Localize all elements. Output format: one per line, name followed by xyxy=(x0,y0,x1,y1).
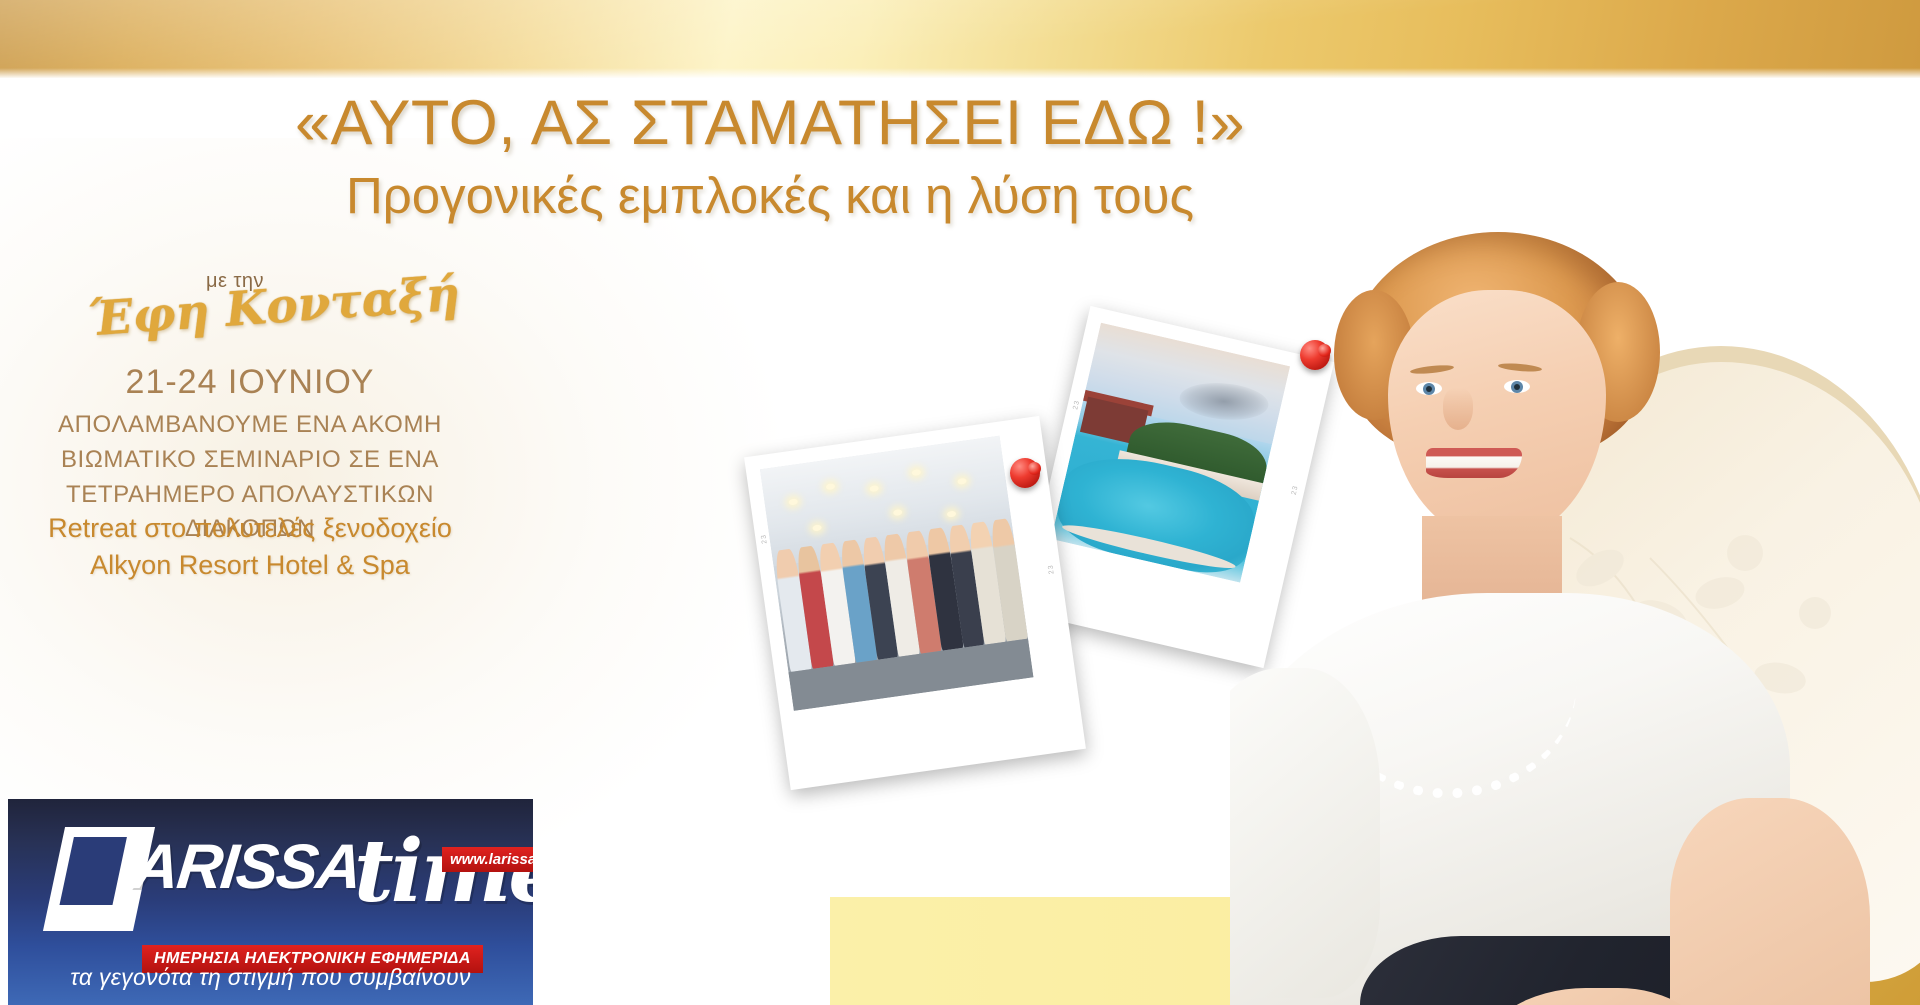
top-gold-bar xyxy=(0,0,1920,78)
venue-line-2: Alkyon Resort Hotel & Spa xyxy=(20,547,480,584)
headline-block: «ΑΥΤΟ, ΑΣ ΣΤΑΜΑΤΗΣΕΙ ΕΔΩ !» Προγονικές ε… xyxy=(180,90,1360,224)
logo-wordmark-row: ARISSA time www.larissatime.gr ΗΜΕΡΗΣΙΑ … xyxy=(54,823,524,933)
logo-word-primary: ARISSA xyxy=(130,831,364,903)
page-title: «ΑΥΤΟ, ΑΣ ΣΤΑΜΑΤΗΣΕΙ ΕΔΩ !» xyxy=(180,90,1360,157)
logo-url-badge[interactable]: www.larissatime.gr xyxy=(442,847,533,872)
presenter-portrait xyxy=(1230,198,1920,1005)
venue-block: Retreat στο πολυτελές ξενοδοχείο Alkyon … xyxy=(20,510,480,585)
group-photo-image xyxy=(760,436,1034,711)
main-canvas: «ΑΥΤΟ, ΑΣ ΣΤΑΜΑΤΗΣΕΙ ΕΔΩ !» Προγονικές ε… xyxy=(0,78,1920,1005)
detail-line: ΒΙΩΜΑΤΙΚΟ ΣΕΜΙΝΑΡΙΟ ΣΕ ΕΝΑ xyxy=(10,443,490,478)
photo-edge-mark: 23 xyxy=(760,533,768,544)
logo-tagline: τα γεγονότα τη στιγμή που συμβαίνουν xyxy=(8,964,533,991)
logo-word-secondary: time xyxy=(354,829,533,915)
venue-line-1: Retreat στο πολυτελές ξενοδοχείο xyxy=(20,510,480,547)
larissatime-logo-panel[interactable]: ARISSA time www.larissatime.gr ΗΜΕΡΗΣΙΑ … xyxy=(8,799,533,1005)
pushpin-icon xyxy=(1010,458,1044,492)
promo-banner: «ΑΥΤΟ, ΑΣ ΣΤΑΜΑΤΗΣΕΙ ΕΔΩ !» Προγονικές ε… xyxy=(0,0,1920,1005)
event-dates: 21-24 ΙΟΥΝΙΟΥ xyxy=(30,363,470,402)
photo-edge-mark: 23 xyxy=(1048,564,1056,575)
page-subtitle: Προγονικές εμπλοκές και η λύση τους xyxy=(180,167,1360,224)
detail-line: ΑΠΟΛΑΜΒΑΝΟΥΜΕ ΕΝΑ ΑΚΟΜΗ xyxy=(10,408,490,443)
